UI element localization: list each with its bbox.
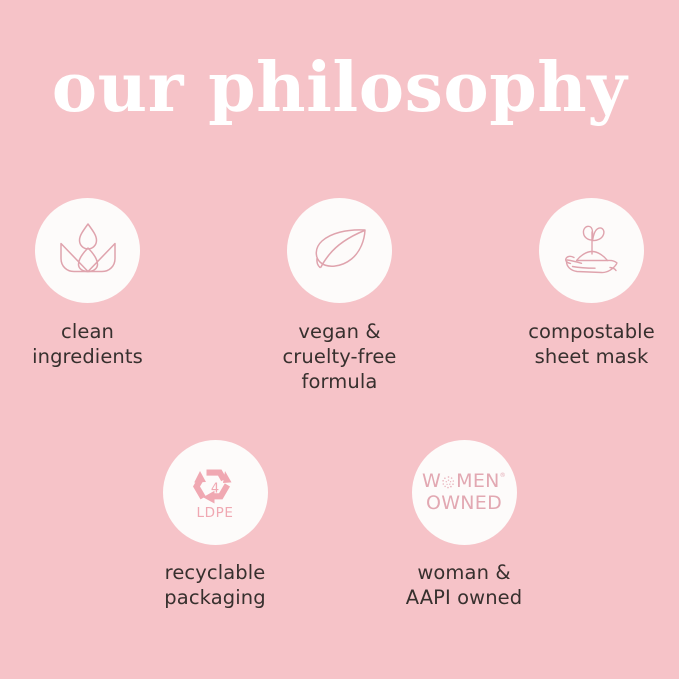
women-owned-line-2: OWNED xyxy=(421,494,507,513)
badge-recyclable-packaging: 4 LDPE recyclable packaging xyxy=(140,440,290,610)
women-owned-letter-w: W xyxy=(422,472,441,491)
badge-caption: vegan & cruelty-free formula xyxy=(282,319,396,394)
badge-caption: clean ingredients xyxy=(32,319,143,369)
badge-caption: recyclable packaging xyxy=(164,560,265,610)
women-owned-letters-men: MEN xyxy=(456,472,500,491)
badge-circle xyxy=(35,198,140,303)
badge-row-bottom: 4 LDPE recyclable packaging W xyxy=(0,440,679,610)
badge-vegan-cruelty-free: vegan & cruelty-free formula xyxy=(265,198,415,394)
badge-circle: 4 LDPE xyxy=(163,440,268,545)
badge-woman-aapi-owned: W xyxy=(389,440,539,610)
page-title: our philosophy xyxy=(0,46,679,130)
badge-row-top: clean ingredients vegan & cruelty-free f… xyxy=(0,198,679,394)
recycle-ldpe-icon: 4 LDPE xyxy=(176,451,254,534)
women-owned-line-1: W xyxy=(421,472,507,491)
leaf-icon xyxy=(303,211,377,290)
badge-circle: W xyxy=(412,440,517,545)
philosophy-page: our philosophy cle xyxy=(0,0,679,679)
badge-compostable-sheet-mask: compostable sheet mask xyxy=(517,198,667,369)
sparkle-burst-icon xyxy=(441,475,456,490)
badge-circle xyxy=(287,198,392,303)
hand-sprout-icon xyxy=(554,210,630,291)
recycle-number: 4 xyxy=(211,482,219,497)
badge-clean-ingredients: clean ingredients xyxy=(13,198,163,369)
badge-caption: compostable sheet mask xyxy=(528,319,655,369)
badge-circle xyxy=(539,198,644,303)
women-owned-badge-icon: W xyxy=(421,472,507,513)
droplet-lotus-icon xyxy=(51,211,125,290)
recycle-code-label: LDPE xyxy=(197,505,234,521)
registered-mark: ® xyxy=(500,473,506,479)
badge-caption: woman & AAPI owned xyxy=(406,560,523,610)
